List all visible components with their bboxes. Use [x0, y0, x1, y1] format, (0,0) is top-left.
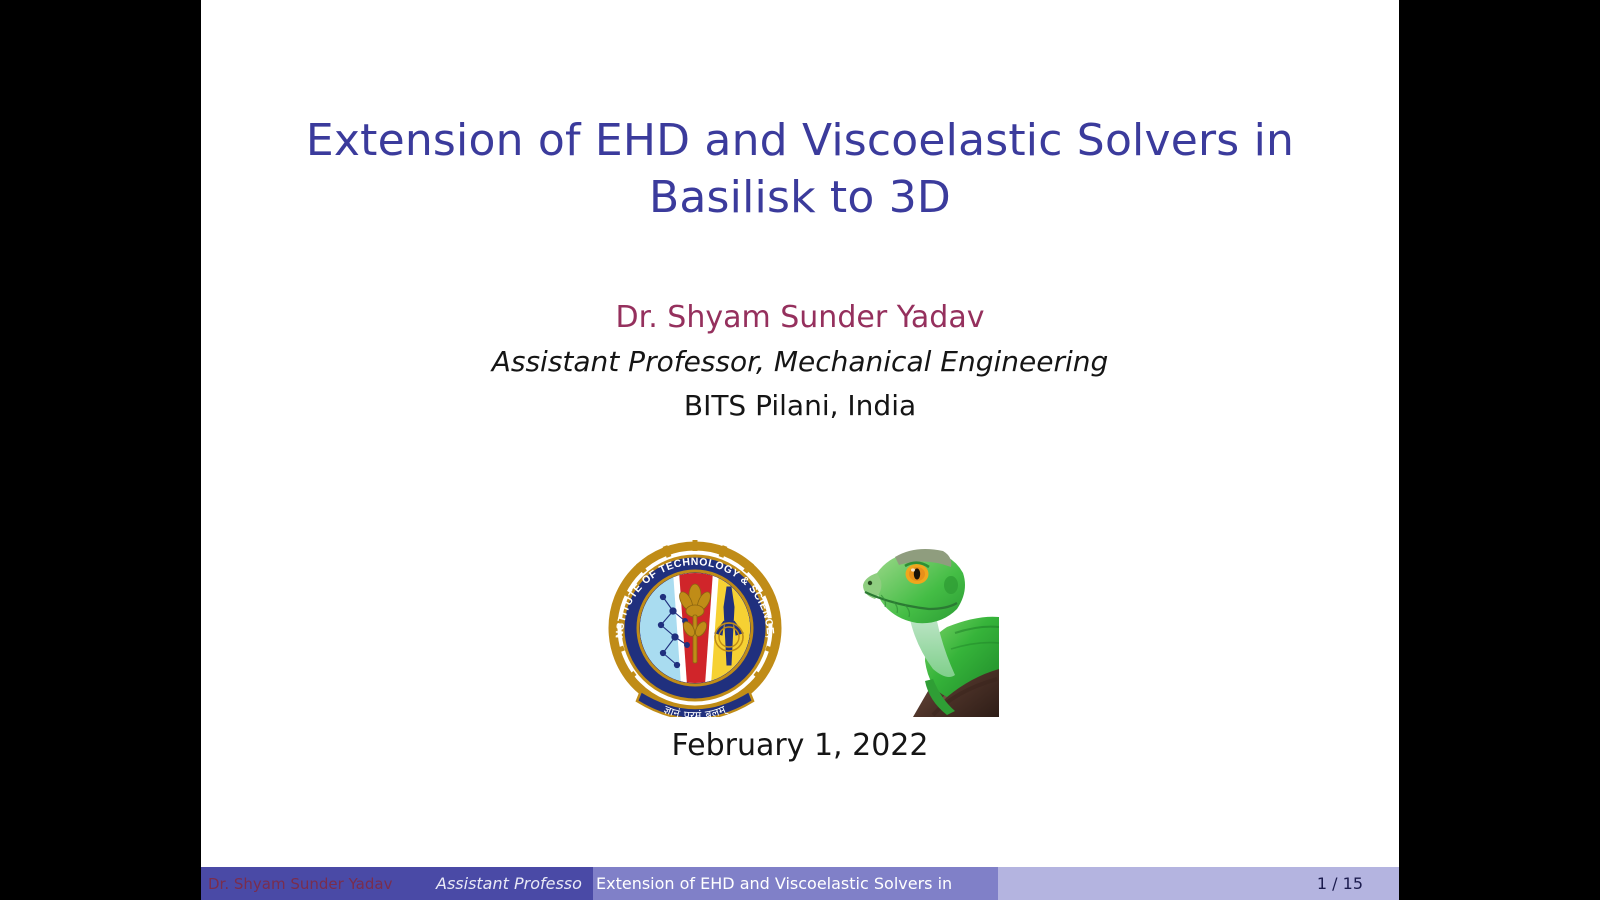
slide-canvas: Extension of EHD and Viscoelastic Solver… — [201, 0, 1399, 900]
title-block: Extension of EHD and Viscoelastic Solver… — [201, 112, 1399, 226]
author-block: Dr. Shyam Sunder Yadav Assistant Profess… — [201, 296, 1399, 428]
images-row: BIRLA INSTITUTE OF TECHNOLOGY & SCIENCE,… — [201, 525, 1399, 717]
basilisk-lizard-image — [851, 529, 999, 717]
slide-title: Extension of EHD and Viscoelastic Solver… — [201, 112, 1399, 226]
bits-pilani-logo: BIRLA INSTITUTE OF TECHNOLOGY & SCIENCE,… — [601, 525, 789, 717]
footer-spacer — [998, 867, 1317, 900]
lizard-ear — [944, 576, 958, 594]
letterbox-left — [0, 0, 201, 900]
date-block: February 1, 2022 — [201, 728, 1399, 763]
author-name: Dr. Shyam Sunder Yadav — [201, 296, 1399, 340]
lizard-nostril — [868, 581, 872, 585]
author-role: Assistant Professor, Mechanical Engineer… — [201, 340, 1399, 384]
author-affiliation: BITS Pilani, India — [201, 384, 1399, 428]
footer-page-number: 1 / 15 — [1317, 867, 1399, 900]
footer-author[interactable]: Dr. Shyam Sunder Yadav — [201, 867, 428, 900]
footer-role[interactable]: Assistant Professo — [428, 867, 593, 900]
letterbox-right — [1399, 0, 1600, 900]
presentation-viewer: Extension of EHD and Viscoelastic Solver… — [0, 0, 1600, 900]
slide-footer-bar: Dr. Shyam Sunder Yadav Assistant Profess… — [201, 867, 1399, 900]
footer-title[interactable]: Extension of EHD and Viscoelastic Solver… — [593, 867, 998, 900]
presentation-date: February 1, 2022 — [201, 728, 1399, 763]
